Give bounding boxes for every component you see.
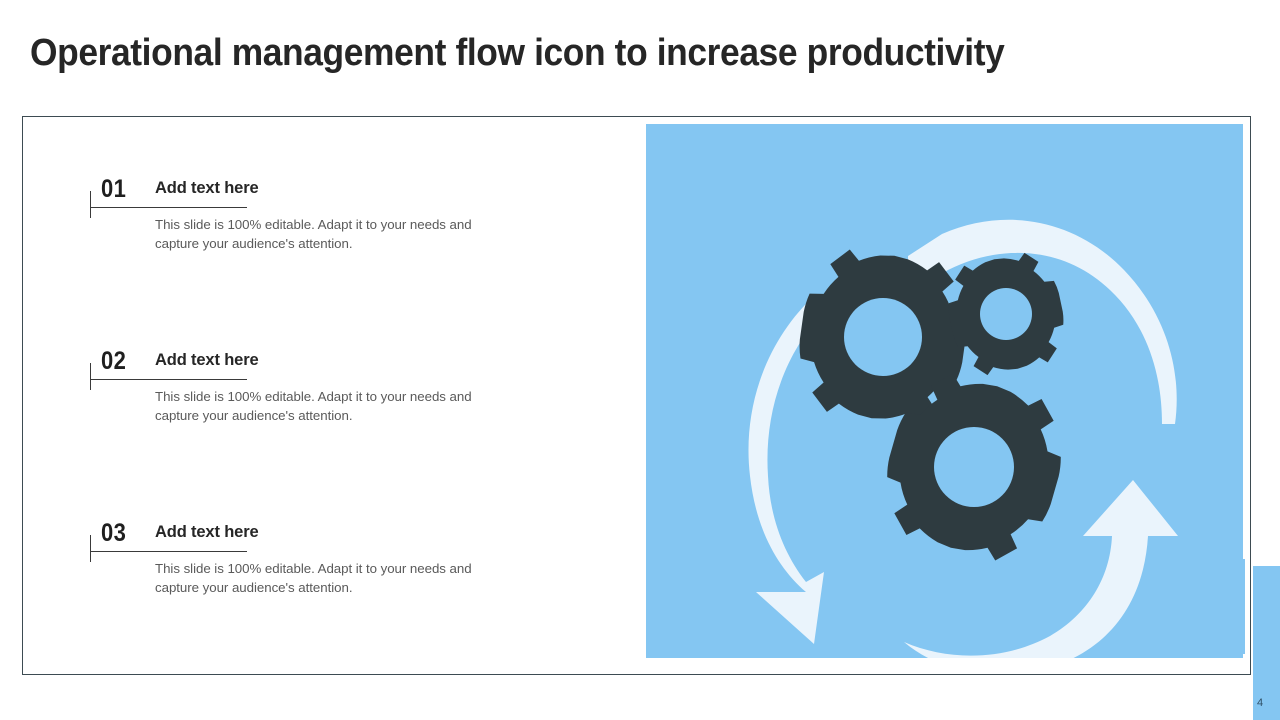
block-heading: Add text here — [155, 179, 259, 198]
block-number: 03 — [101, 519, 126, 548]
content-frame: 01 Add text here This slide is 100% edit… — [22, 116, 1251, 675]
edge-accent-strip — [1240, 559, 1245, 654]
block-body: This slide is 100% editable. Adapt it to… — [155, 560, 500, 597]
block-number: 01 — [101, 175, 126, 204]
block-number: 02 — [101, 347, 126, 376]
text-column: 01 Add text here This slide is 100% edit… — [90, 177, 610, 693]
block-rule-icon — [90, 551, 247, 552]
block-rule-icon — [90, 207, 247, 208]
text-block[interactable]: 01 Add text here This slide is 100% edit… — [90, 177, 610, 349]
gears-cycle-svg — [646, 124, 1243, 658]
gears-cycle-graphic — [646, 124, 1243, 658]
text-block[interactable]: 02 Add text here This slide is 100% edit… — [90, 349, 610, 521]
block-heading: Add text here — [155, 351, 259, 370]
page-number: 4 — [1249, 697, 1271, 709]
block-rule-icon — [90, 379, 247, 380]
slide: Operational management flow icon to incr… — [0, 0, 1280, 720]
block-body: This slide is 100% editable. Adapt it to… — [155, 388, 500, 425]
text-block[interactable]: 03 Add text here This slide is 100% edit… — [90, 521, 610, 693]
block-heading: Add text here — [155, 523, 259, 542]
page-title: Operational management flow icon to incr… — [30, 30, 1137, 76]
block-body: This slide is 100% editable. Adapt it to… — [155, 216, 500, 253]
